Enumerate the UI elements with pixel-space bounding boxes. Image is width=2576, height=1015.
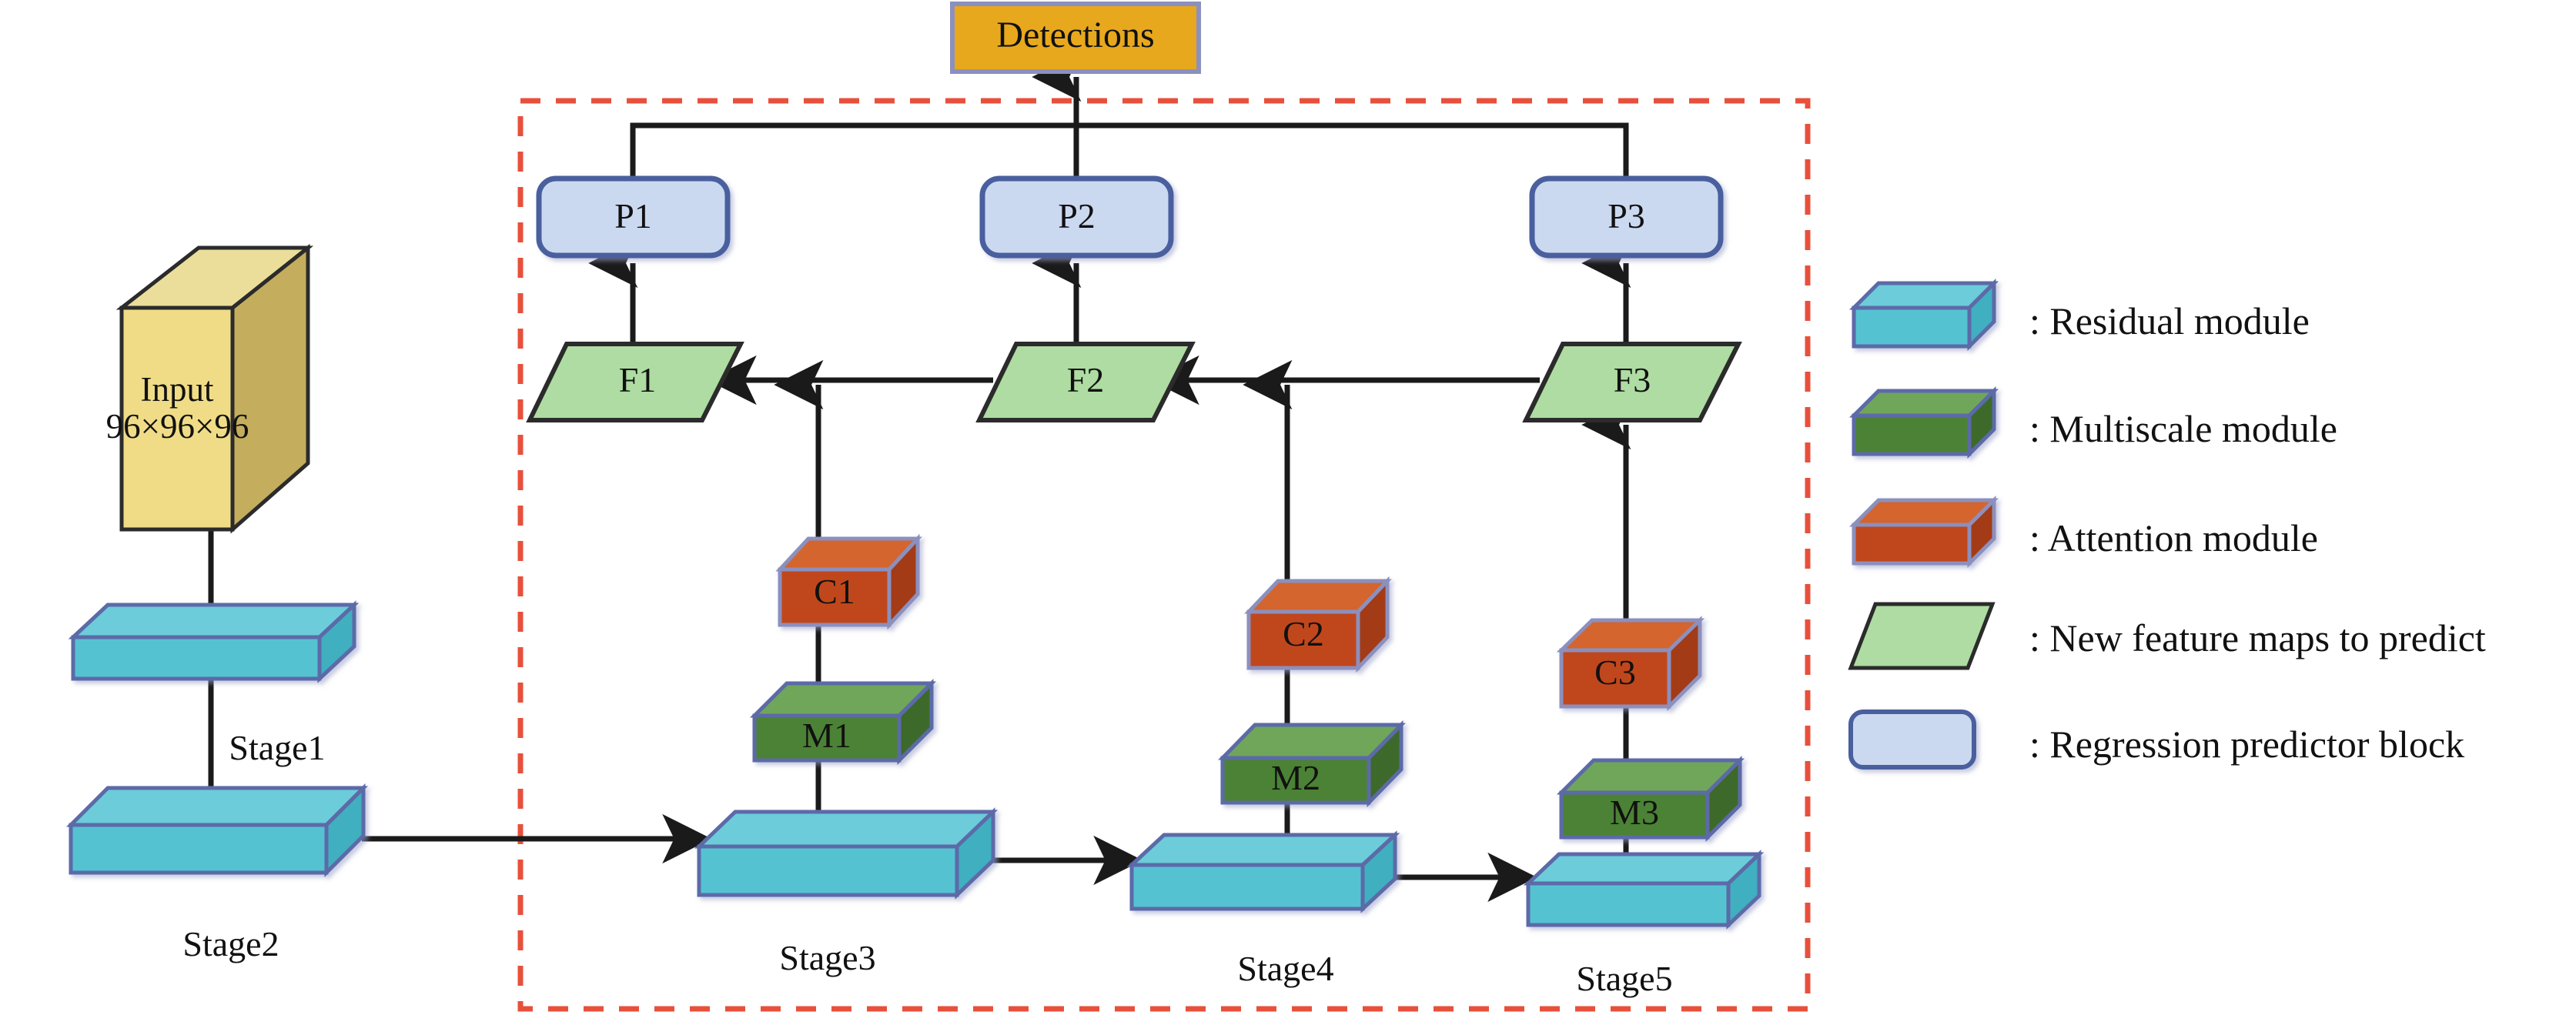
stage5-residual-block[interactable] <box>1528 854 1759 925</box>
detections-node[interactable] <box>952 4 1199 72</box>
m3-multiscale-block[interactable] <box>1561 760 1740 837</box>
p2-predictor-box[interactable] <box>982 179 1171 255</box>
stage1-residual-block[interactable] <box>73 605 354 679</box>
f2-feature-parallelogram[interactable] <box>979 344 1192 420</box>
legend-swatch-new-feature-maps <box>1851 604 1992 668</box>
stage2-residual-block[interactable] <box>71 788 363 873</box>
legend-swatch-attention <box>1854 500 1994 563</box>
p3-predictor-box[interactable] <box>1532 179 1721 255</box>
p1-predictor-box[interactable] <box>539 179 728 255</box>
c3-attention-block[interactable] <box>1561 620 1700 706</box>
input-cube[interactable] <box>122 248 308 529</box>
stage4-residual-block[interactable] <box>1132 835 1395 909</box>
stage3-residual-block[interactable] <box>699 812 993 895</box>
f3-feature-parallelogram[interactable] <box>1526 344 1738 420</box>
diagram-canvas: Detections Input 96×96×96 P1 P2 P3 F1 F2… <box>0 0 2576 1015</box>
c1-attention-block[interactable] <box>780 539 918 625</box>
m1-multiscale-block[interactable] <box>754 683 932 760</box>
m2-multiscale-block[interactable] <box>1223 725 1401 803</box>
legend-swatch-multiscale <box>1854 391 1994 454</box>
legend-swatch-regression-predictor <box>1851 712 1974 767</box>
f1-feature-parallelogram[interactable] <box>530 344 741 420</box>
architecture-diagram-svg <box>0 0 2576 1015</box>
predictor-bus-line <box>633 125 1626 179</box>
legend-swatch-residual <box>1854 283 1994 346</box>
c2-attention-block[interactable] <box>1249 581 1387 668</box>
